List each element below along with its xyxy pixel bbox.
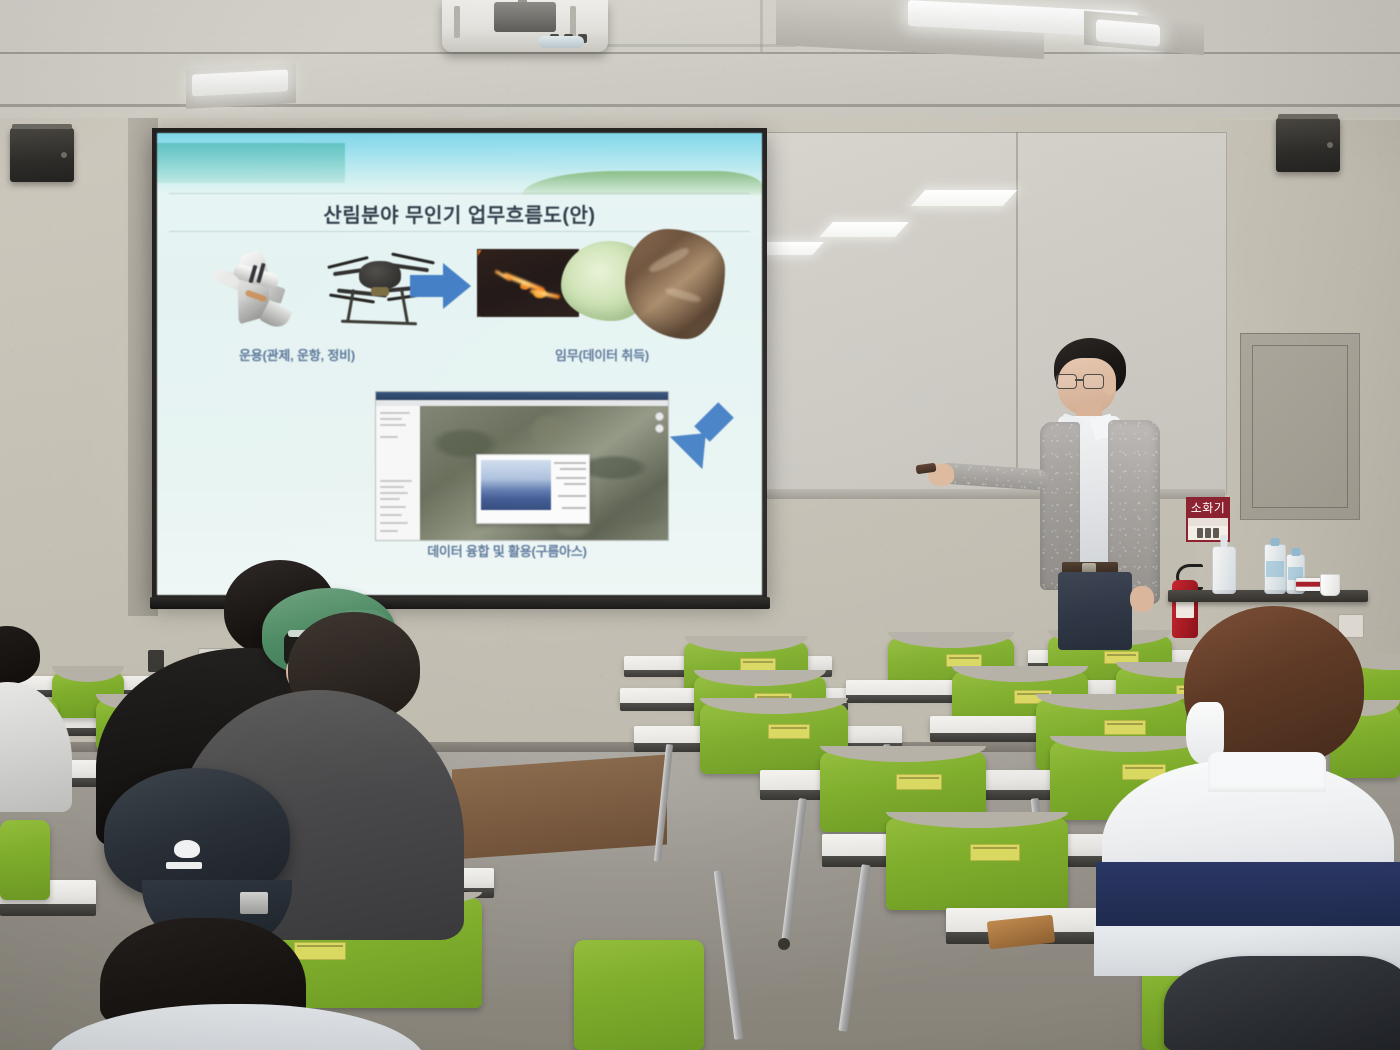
presenter-pants bbox=[1058, 572, 1132, 650]
ceiling-grid-line bbox=[586, 44, 796, 47]
slide-label-operation: 운용(관제, 운항, 정비) bbox=[187, 345, 407, 364]
desk-edge bbox=[0, 904, 96, 916]
slide-title: 산림분야 무인기 업무흐름도(안) bbox=[157, 199, 762, 228]
whiteboard-glare bbox=[819, 222, 909, 237]
slide-label-fusion: 데이터 융합 및 활용(구름아스) bbox=[357, 541, 657, 560]
chair-inventory-tag bbox=[970, 844, 1020, 861]
whiteboard-seam bbox=[1016, 132, 1018, 492]
classroom-scene: 소화기 산림분야 무인기 업무흐름도(안) bbox=[0, 0, 1400, 1050]
gis-popup-panel bbox=[476, 454, 590, 524]
puffer-jacket bbox=[1164, 956, 1400, 1050]
paper-cup bbox=[1320, 574, 1340, 596]
fixed-wing-uav-icon bbox=[211, 247, 303, 333]
terrain-rock-photo bbox=[625, 229, 725, 339]
green-stacking-chair[interactable] bbox=[886, 818, 1068, 910]
desk-caster bbox=[778, 938, 790, 950]
ceiling-projector bbox=[442, 0, 608, 52]
glasses bbox=[1056, 374, 1102, 387]
green-stacking-chair[interactable] bbox=[0, 820, 50, 900]
polo-collar bbox=[1208, 752, 1326, 792]
projection-screen: 산림분야 무인기 업무흐름도(안) bbox=[152, 128, 767, 600]
gis-left-panel bbox=[376, 406, 421, 540]
water-bottle-1 bbox=[1264, 544, 1286, 594]
cap-buckle bbox=[240, 892, 268, 914]
wall-access-panel bbox=[1240, 333, 1360, 520]
polo-shirt-navy-stripe bbox=[1096, 862, 1400, 928]
chair-inventory-tag bbox=[1104, 720, 1146, 735]
ceiling-grid-line bbox=[760, 0, 763, 52]
presenter-hand bbox=[1130, 586, 1154, 612]
wall-speaker-right bbox=[1276, 118, 1340, 172]
mlb-logo-icon bbox=[174, 840, 200, 858]
hand-sanitizer-bottle bbox=[1212, 546, 1236, 594]
chair-inventory-tag bbox=[896, 774, 942, 790]
presenter bbox=[1020, 338, 1180, 650]
fire-extinguisher-sign-label: 소화기 bbox=[1188, 499, 1228, 518]
gis-map-application-screenshot bbox=[375, 391, 669, 541]
slide-rule bbox=[169, 193, 750, 194]
slide-sky-accent bbox=[157, 143, 345, 183]
chair-inventory-tag bbox=[294, 942, 346, 960]
presenter-ear bbox=[1104, 380, 1115, 395]
wooden-step bbox=[452, 754, 667, 859]
wall-speaker-left bbox=[10, 128, 74, 182]
green-stacking-chair[interactable] bbox=[574, 940, 704, 1050]
chair-inventory-tag bbox=[768, 724, 810, 739]
whiteboard-glare bbox=[911, 190, 1017, 206]
slide-surface: 산림분야 무인기 업무흐름도(안) bbox=[157, 133, 762, 595]
slide-label-mission: 임무(데이터 취득) bbox=[487, 345, 717, 364]
